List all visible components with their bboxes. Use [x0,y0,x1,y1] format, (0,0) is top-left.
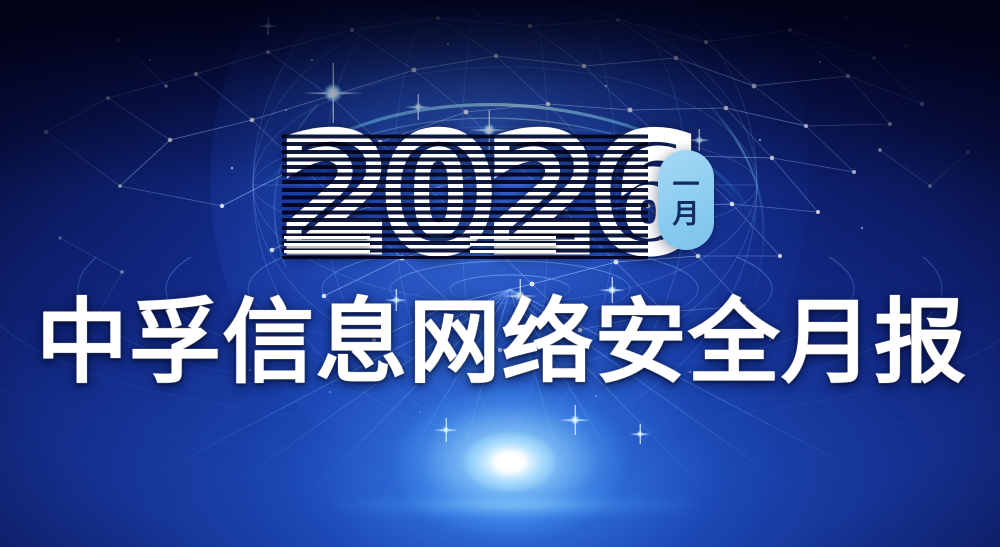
title-char: 信 [222,296,314,390]
month-badge-line-2: 月 [673,201,700,229]
title-char: 全 [688,296,780,390]
title-char: 孚 [129,296,221,390]
page-title: 中 孚 信 息 网 络 安 全 月 报 [36,296,966,390]
month-badge: 一 月 [658,150,714,250]
month-badge-line-1: 一 [673,172,700,200]
title-char: 月 [781,296,873,390]
year-display: 2026 [282,131,697,259]
title-char: 网 [408,296,500,390]
title-char: 安 [595,296,687,390]
title-char: 息 [315,296,407,390]
monthly-report-banner: 2026 一 月 中 孚 信 息 网 络 安 全 月 报 [0,0,1000,547]
title-char: 络 [502,296,594,390]
title-char: 中 [36,296,128,390]
year-text: 2026 [282,131,697,259]
title-char: 报 [874,296,966,390]
